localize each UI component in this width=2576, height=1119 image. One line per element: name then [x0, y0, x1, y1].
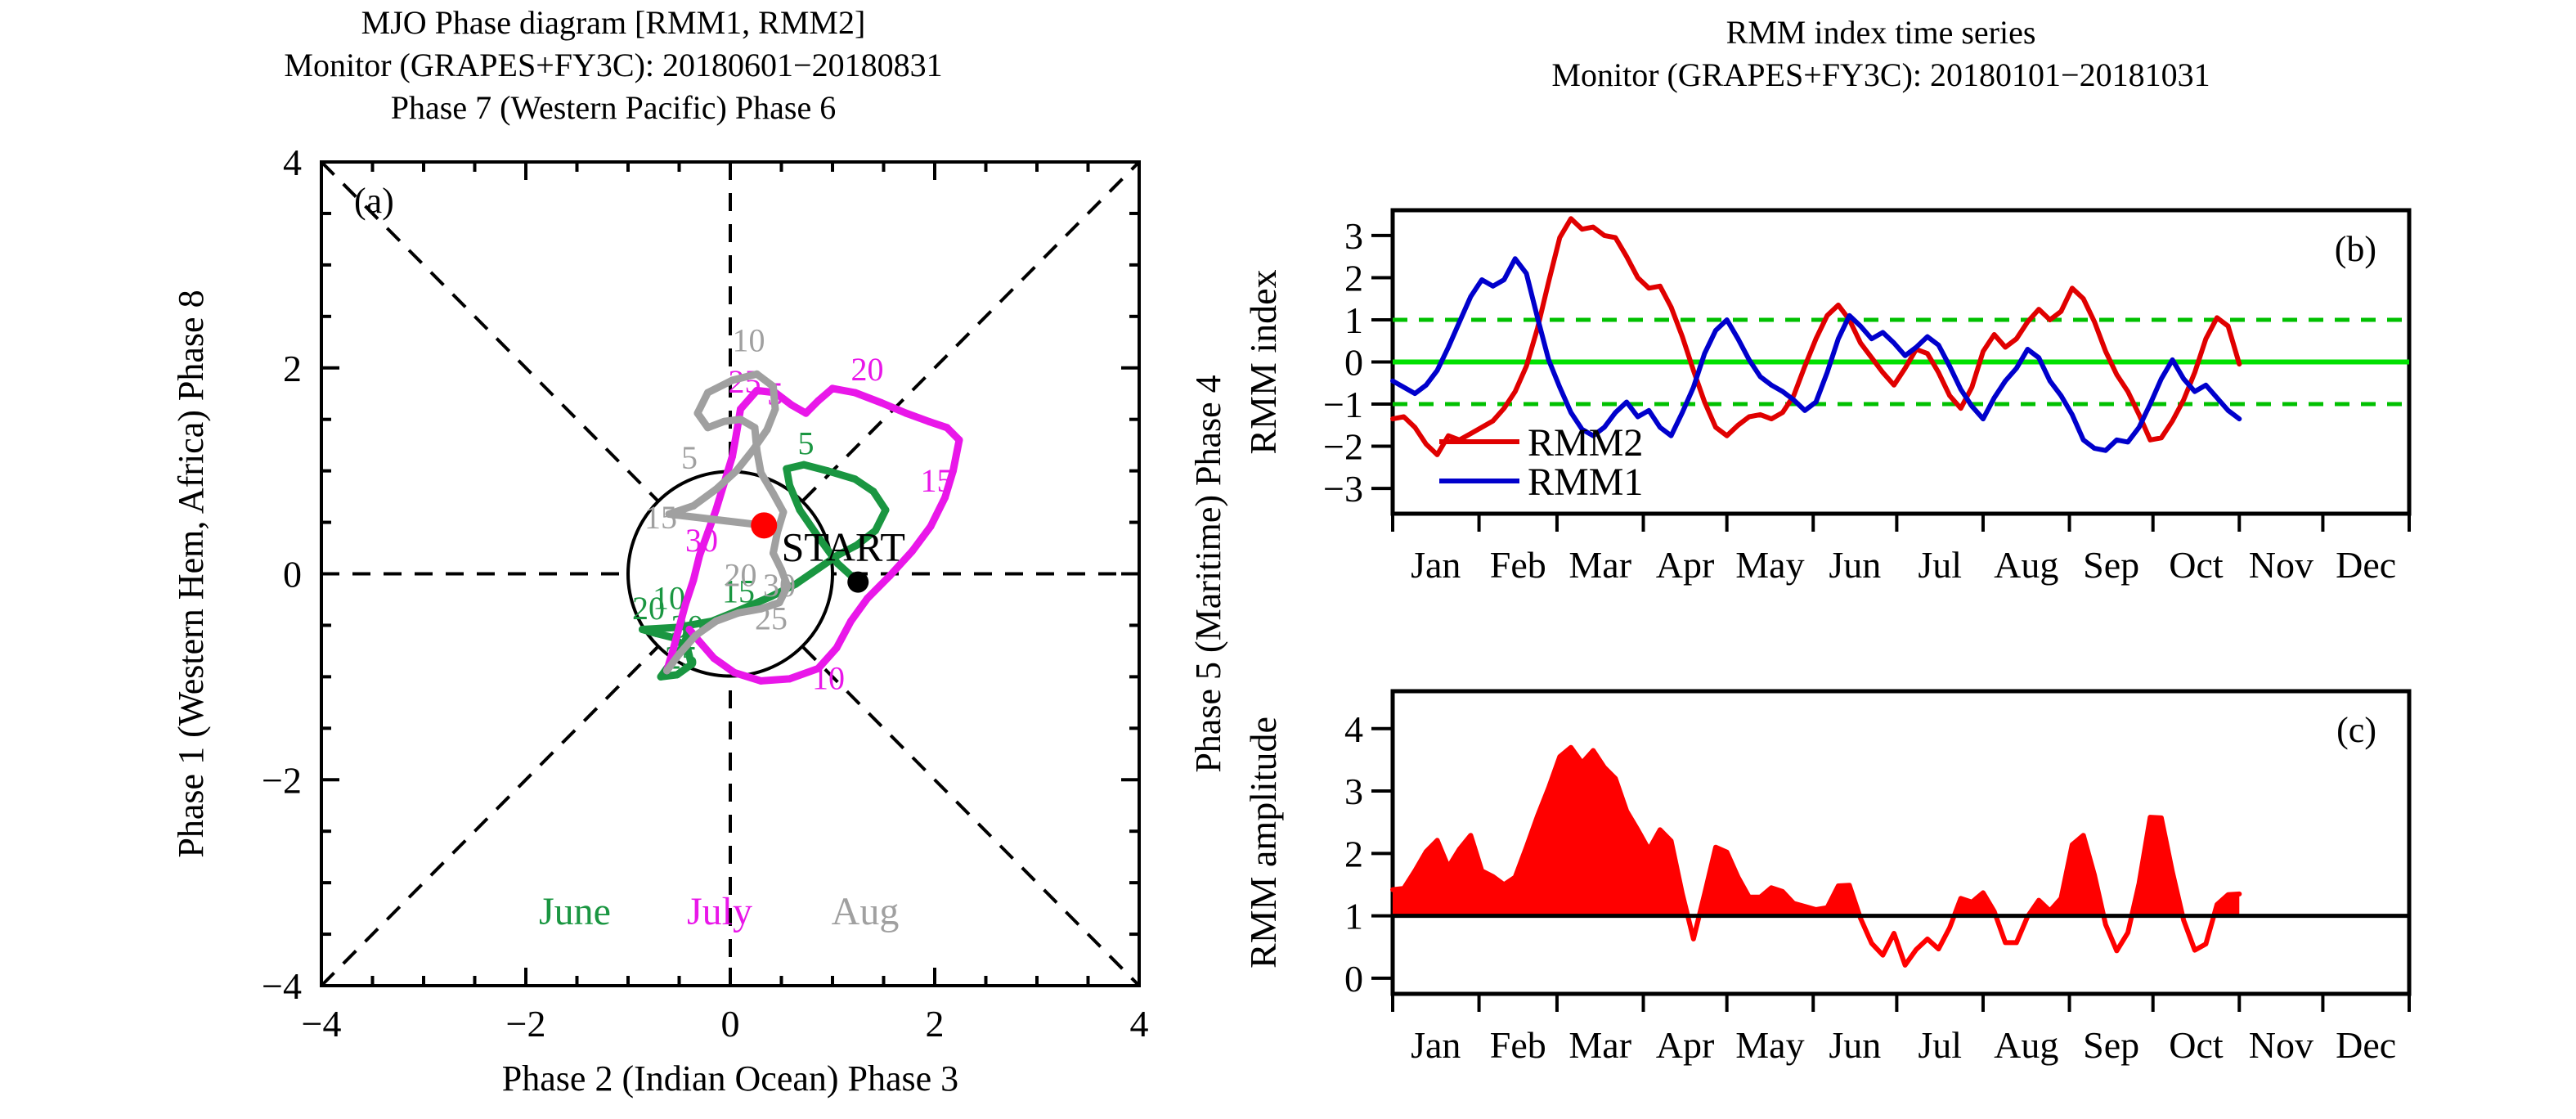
track-point [704, 424, 711, 431]
panel-a-yaxis-label-left: Phase 1 (Western Hem, Africa) Phase 8 [171, 290, 211, 857]
track-point [786, 482, 793, 489]
month-label-nov: Nov [2249, 1024, 2313, 1066]
track-point [770, 383, 777, 390]
month-label-sep: Sep [2083, 1024, 2139, 1066]
panel-c-yticks: 01234 [1344, 708, 1393, 1000]
panel-b-yticks: −3−2−10123 [1323, 215, 1393, 510]
track-point [780, 508, 788, 515]
figure-svg: −4−2024−4−202451015202530510152025305101… [0, 0, 2576, 1119]
track-point [692, 632, 699, 640]
track-point [712, 618, 720, 625]
track-point [753, 371, 761, 378]
panel-a-legend-june: June [539, 890, 611, 933]
panel-a-label: (a) [354, 181, 394, 221]
panel-c-amplitude-line [1393, 748, 2239, 965]
panel-c-amplitude-fill [1393, 748, 2239, 965]
panel-a-legend-aug: Aug [832, 890, 900, 933]
track-point [639, 626, 646, 633]
track-day-label-aug-25: 25 [755, 600, 788, 636]
month-label-apr: Apr [1656, 1024, 1715, 1066]
panel-c-yticklabel: 3 [1344, 771, 1363, 812]
track-point [786, 675, 793, 682]
panel-b: −3−2−10123RMM2RMM1(b)RMM indexJanFebMarA… [1242, 210, 2409, 586]
month-label-oct: Oct [2169, 1024, 2224, 1066]
panel-b-yticklabel: −2 [1323, 426, 1363, 468]
panel-c: 01234(c)RMM amplitudeJanFebMarAprMayJunJ… [1242, 691, 2409, 1066]
track-point [909, 547, 916, 555]
month-axis-panel-b: JanFebMarAprMayJunJulAugSepOctNovDec [1393, 514, 2409, 586]
panel-a-xticklabel: 2 [926, 1003, 945, 1045]
panel-b-yticklabel: 2 [1344, 257, 1363, 299]
month-label-may: May [1735, 544, 1804, 586]
track-point [694, 410, 702, 417]
panel-c-yticklabel: 0 [1344, 958, 1363, 1000]
track-point [757, 677, 765, 685]
track-point [712, 486, 720, 493]
track-day-label-july-10: 10 [812, 659, 845, 696]
track-day-label-june-5: 5 [798, 425, 815, 461]
panel-a-xticklabel: −4 [302, 1003, 342, 1045]
month-label-jul: Jul [1918, 1024, 1962, 1066]
track-point [829, 384, 837, 392]
panel-b-yticklabel: 0 [1344, 342, 1363, 384]
month-label-apr: Apr [1656, 544, 1715, 586]
month-label-nov: Nov [2249, 544, 2313, 586]
panel-a-yaxis-label-right: Phase 5 (Maritime) Phase 4 [1188, 375, 1228, 772]
panel-b-ylabel: RMM index [1242, 269, 1284, 454]
panel-a: −4−2024−4−202451015202530510152025305101… [171, 142, 1228, 1099]
track-point [749, 447, 756, 454]
panel-b-yticklabel: −3 [1323, 468, 1363, 510]
month-label-dec: Dec [2336, 1024, 2396, 1066]
track-point [675, 650, 683, 658]
track-point [956, 436, 963, 443]
track-point [690, 577, 698, 584]
panel-b-yticklabel: 1 [1344, 299, 1363, 341]
track-day-label-aug-30: 30 [763, 567, 796, 604]
track-point [833, 645, 841, 652]
panel-a-yticklabel: 2 [283, 348, 302, 389]
end-marker [751, 512, 777, 538]
track-point [690, 502, 698, 510]
panel-b-series-rmm1 [1393, 258, 2239, 450]
month-label-jun: Jun [1829, 1024, 1881, 1066]
track-point [878, 399, 886, 407]
track-day-label-july-15: 15 [921, 462, 954, 499]
track-point [653, 630, 661, 637]
panel-b-yticklabel: −1 [1323, 384, 1363, 425]
month-label-sep: Sep [2083, 544, 2139, 586]
track-point [927, 523, 935, 530]
track-point [886, 573, 894, 580]
track-day-label-aug-20: 20 [725, 557, 757, 594]
track-day-label-july-20: 20 [851, 351, 884, 388]
track-point [772, 406, 779, 413]
month-label-jan: Jan [1411, 1024, 1461, 1066]
track-point [720, 418, 728, 425]
month-label-jan: Jan [1411, 544, 1461, 586]
track-point [770, 550, 777, 557]
month-label-jul: Jul [1918, 544, 1962, 586]
panel-b-yticklabel: 3 [1344, 215, 1363, 257]
track-point [737, 416, 744, 423]
track-point [770, 490, 777, 497]
panel-b-series-rmm2 [1393, 218, 2239, 455]
track-point [704, 389, 711, 396]
month-label-aug: Aug [1994, 544, 2058, 586]
track-point [729, 376, 736, 384]
panel-b-legend-label-rmm1: RMM1 [1528, 461, 1643, 504]
track-point [712, 506, 720, 514]
panel-c-ylabel: RMM amplitude [1242, 717, 1284, 968]
track-point [851, 475, 859, 483]
track-point [797, 506, 804, 514]
panel-c-yticklabel: 2 [1344, 833, 1363, 874]
panel-c-label: (c) [2336, 710, 2376, 750]
panel-a-xaxis-label: Phase 2 (Indian Ocean) Phase 3 [502, 1058, 958, 1099]
track-point [686, 626, 693, 633]
track-point [801, 461, 808, 469]
track-point [764, 426, 771, 434]
panel-a-yticklabel: 4 [283, 142, 302, 183]
month-label-aug: Aug [1994, 1024, 2058, 1066]
track-point [824, 467, 831, 474]
track-point [733, 430, 740, 438]
month-label-oct: Oct [2169, 544, 2224, 586]
month-label-may: May [1735, 1024, 1804, 1066]
track-day-label-june-20: 20 [632, 590, 665, 627]
track-point [870, 488, 877, 495]
panel-a-legend-july: July [687, 890, 752, 933]
track-point [788, 402, 796, 409]
track-day-label-july-30: 30 [685, 522, 718, 559]
month-axis-panel-c: JanFebMarAprMayJunJulAugSepOctNovDec [1393, 994, 2409, 1066]
track-point [663, 667, 671, 674]
panel-a-xticklabel: −2 [506, 1003, 546, 1045]
month-label-dec: Dec [2336, 544, 2396, 586]
panel-a-xticklabel: 0 [721, 1003, 740, 1045]
track-point [729, 453, 736, 461]
track-point [670, 646, 677, 654]
month-label-jun: Jun [1829, 544, 1881, 586]
track-point [757, 470, 765, 477]
panel-c-yticklabel: 1 [1344, 896, 1363, 937]
track-point [847, 618, 855, 625]
track-point [851, 389, 859, 396]
track-point [733, 467, 740, 474]
month-label-mar: Mar [1568, 544, 1631, 586]
track-point [752, 424, 759, 431]
month-label-mar: Mar [1568, 1024, 1631, 1066]
track-point [944, 424, 951, 431]
track-point [783, 465, 790, 473]
track-point [682, 601, 689, 609]
start-marker [847, 572, 868, 593]
track-point [737, 406, 744, 413]
panel-a-yticklabel: −2 [262, 759, 302, 801]
panel-a-month-legend: JuneJulyAug [539, 890, 899, 933]
track-point [735, 609, 743, 617]
panel-c-yticklabel: 4 [1344, 708, 1363, 750]
panel-a-yticklabel: −4 [262, 965, 302, 1007]
track-point [815, 398, 822, 405]
track-day-label-aug-15: 15 [644, 499, 677, 536]
month-label-feb: Feb [1490, 1024, 1546, 1066]
track-point [925, 418, 932, 425]
figure-canvas: MJO Phase diagram [RMM1, RMM2] Monitor (… [0, 0, 2576, 1119]
track-point [657, 673, 665, 681]
track-point [882, 506, 890, 514]
month-label-feb: Feb [1490, 544, 1546, 586]
track-point [711, 654, 718, 662]
track-point [675, 623, 683, 631]
track-point [864, 595, 871, 602]
panel-a-xticklabel: 4 [1130, 1003, 1149, 1045]
track-point [731, 669, 738, 676]
track-day-label-aug-10: 10 [733, 322, 765, 359]
start-label: START [782, 524, 905, 570]
panel-b-legend-label-rmm2: RMM2 [1528, 421, 1643, 465]
track-point [903, 410, 910, 417]
track-day-label-aug-5: 5 [681, 439, 698, 476]
panel-b-label: (b) [2335, 229, 2376, 269]
track-point [802, 410, 810, 417]
panel-a-yticklabel: 0 [283, 554, 302, 595]
